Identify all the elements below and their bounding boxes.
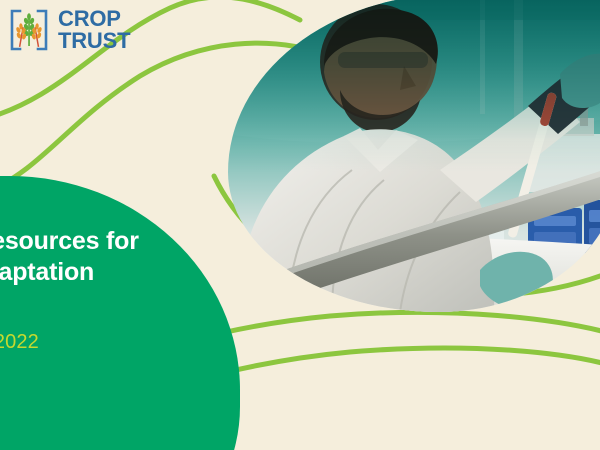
photo-teal-overlay: [228, 0, 600, 172]
logo-text-line2: TRUST: [58, 30, 130, 52]
crop-trust-logo[interactable]: CROP TRUST: [8, 8, 130, 53]
wheat-stalks-in-brackets-icon: [8, 8, 50, 52]
event-banner: C C ...etic Resources for ...ate Adaptat…: [0, 0, 600, 450]
event-title: ...etic Resources for ...ate Adaptation: [0, 226, 224, 287]
crop-trust-logo-text: CROP TRUST: [58, 8, 130, 53]
event-photo: C C: [228, 0, 600, 312]
event-text-block: ...etic Resources for ...ate Adaptation …: [0, 226, 224, 389]
event-date: ...vember 2022: [0, 287, 224, 354]
event-time: ...–18:30: [0, 354, 224, 389]
logo-text-line1: CROP: [58, 8, 130, 30]
